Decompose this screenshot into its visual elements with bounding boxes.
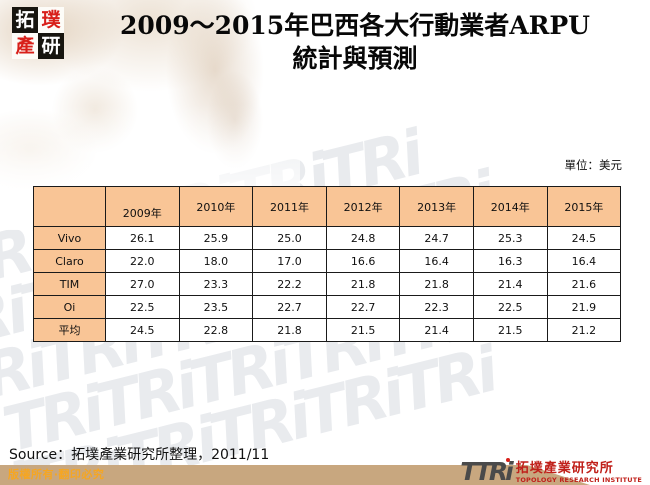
- page-title-line1: 2009～2015年巴西各大行動業者ARPU: [90, 9, 620, 42]
- cell-average-2015: 21.2: [547, 319, 621, 342]
- tri-red-dot-icon: [506, 458, 510, 462]
- cell-tim-2010: 23.3: [179, 273, 253, 296]
- cell-tim-2015: 21.6: [547, 273, 621, 296]
- cell-oi-2012: 22.7: [326, 296, 400, 319]
- cell-average-2014: 21.5: [473, 319, 547, 342]
- logo-char-pu: 璞: [38, 7, 64, 33]
- logo-char-yan: 研: [38, 33, 64, 59]
- tri-corporate-logo: TTRi 拓墣產業研究所 TOPOLOGY RESEARCH INSTITUTE: [460, 461, 642, 484]
- cell-oi-2010: 23.5: [179, 296, 253, 319]
- tri-name-cn: 拓墣產業研究所: [516, 462, 614, 475]
- column-header-2009: 2009年: [106, 187, 180, 227]
- table-corner-cell: [34, 187, 106, 227]
- column-header-2013: 2013年: [400, 187, 474, 227]
- tri-logo-text: 拓墣產業研究所 TOPOLOGY RESEARCH INSTITUTE: [516, 462, 642, 484]
- page-title: 2009～2015年巴西各大行動業者ARPU 統計與預測: [90, 9, 620, 75]
- column-header-2011: 2011年: [253, 187, 327, 227]
- cell-claro-2010: 18.0: [179, 250, 253, 273]
- cell-vivo-2010: 25.9: [179, 227, 253, 250]
- cell-oi-2014: 22.5: [473, 296, 547, 319]
- table-row: Claro 22.0 18.0 17.0 16.6 16.4 16.3 16.4: [34, 250, 621, 273]
- tri-wordmark-text: TTRi: [460, 457, 511, 485]
- cell-claro-2012: 16.6: [326, 250, 400, 273]
- cell-tim-2009: 27.0: [106, 273, 180, 296]
- cell-oi-2015: 21.9: [547, 296, 621, 319]
- table-header-row: 2009年 2010年 2011年 2012年 2013年 2014年 2015…: [34, 187, 621, 227]
- cell-tim-2014: 21.4: [473, 273, 547, 296]
- cell-vivo-2011: 25.0: [253, 227, 327, 250]
- column-header-2010: 2010年: [179, 187, 253, 227]
- data-table-wrapper: 2009年 2010年 2011年 2012年 2013年 2014年 2015…: [33, 186, 621, 342]
- page-title-line2: 統計與預測: [90, 42, 620, 75]
- row-label-tim: TIM: [34, 273, 106, 296]
- row-label-average: 平均: [34, 319, 106, 342]
- cell-average-2011: 21.8: [253, 319, 327, 342]
- cell-claro-2015: 16.4: [547, 250, 621, 273]
- arpu-data-table: 2009年 2010年 2011年 2012年 2013年 2014年 2015…: [33, 186, 621, 342]
- slide-canvas: TRiTRiTRiTRiTRiTRi TRiTRiTRiTRiTRiTRi TR…: [0, 0, 650, 485]
- table-row: TIM 27.0 23.3 22.2 21.8 21.8 21.4 21.6: [34, 273, 621, 296]
- row-label-oi: Oi: [34, 296, 106, 319]
- table-row: 平均 24.5 22.8 21.8 21.5 21.4 21.5 21.2: [34, 319, 621, 342]
- tri-wordmark: TTRi: [460, 461, 511, 484]
- table-row: Vivo 26.1 25.9 25.0 24.8 24.7 25.3 24.5: [34, 227, 621, 250]
- copyright-notice: 版權所有‧翻印必究: [8, 466, 104, 482]
- tri-square-logo: 拓 璞 產 研: [12, 7, 64, 59]
- table-head: 2009年 2010年 2011年 2012年 2013年 2014年 2015…: [34, 187, 621, 227]
- row-label-vivo: Vivo: [34, 227, 106, 250]
- table-body: Vivo 26.1 25.9 25.0 24.8 24.7 25.3 24.5 …: [34, 227, 621, 342]
- cell-tim-2012: 21.8: [326, 273, 400, 296]
- column-header-2012: 2012年: [326, 187, 400, 227]
- cell-claro-2009: 22.0: [106, 250, 180, 273]
- cell-average-2010: 22.8: [179, 319, 253, 342]
- cell-claro-2013: 16.4: [400, 250, 474, 273]
- cell-tim-2013: 21.8: [400, 273, 474, 296]
- cell-oi-2011: 22.7: [253, 296, 327, 319]
- cell-average-2009: 24.5: [106, 319, 180, 342]
- column-header-2014: 2014年: [473, 187, 547, 227]
- cell-vivo-2009: 26.1: [106, 227, 180, 250]
- cell-claro-2014: 16.3: [473, 250, 547, 273]
- logo-char-chan: 產: [12, 33, 38, 59]
- cell-average-2013: 21.4: [400, 319, 474, 342]
- source-note: Source：拓墣產業研究所整理，2011/11: [9, 444, 269, 464]
- cell-vivo-2014: 25.3: [473, 227, 547, 250]
- logo-char-tuo: 拓: [12, 7, 38, 33]
- cell-oi-2009: 22.5: [106, 296, 180, 319]
- cell-tim-2011: 22.2: [253, 273, 327, 296]
- cell-vivo-2013: 24.7: [400, 227, 474, 250]
- tri-name-en: TOPOLOGY RESEARCH INSTITUTE: [516, 477, 642, 484]
- unit-note: 單位：美元: [565, 157, 623, 173]
- cell-average-2012: 21.5: [326, 319, 400, 342]
- cell-oi-2013: 22.3: [400, 296, 474, 319]
- cell-vivo-2015: 24.5: [547, 227, 621, 250]
- column-header-2015: 2015年: [547, 187, 621, 227]
- row-label-claro: Claro: [34, 250, 106, 273]
- table-row: Oi 22.5 23.5 22.7 22.7 22.3 22.5 21.9: [34, 296, 621, 319]
- cell-claro-2011: 17.0: [253, 250, 327, 273]
- cell-vivo-2012: 24.8: [326, 227, 400, 250]
